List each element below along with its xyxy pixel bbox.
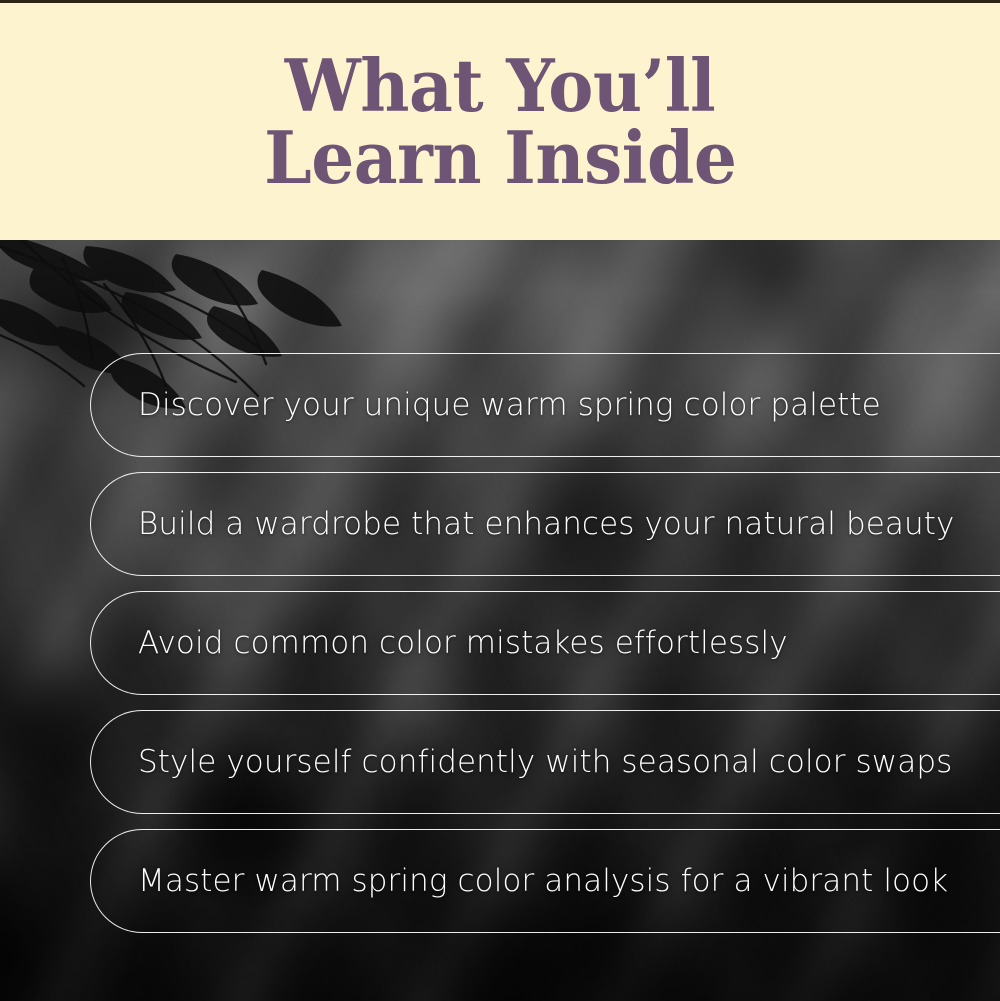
benefit-pill-4[interactable]: Style yourself confidently with seasonal… (90, 710, 1000, 814)
benefit-pill-1[interactable]: Discover your unique warm spring color p… (90, 353, 1000, 457)
poster-canvas: What You’ll Learn Inside (0, 0, 1000, 1001)
benefit-pill-5[interactable]: Master warm spring color analysis for a … (90, 829, 1000, 933)
page-title-line-2: Learn Inside (264, 123, 736, 192)
header-band: What You’ll Learn Inside (0, 3, 1000, 240)
benefit-pill-2[interactable]: Build a wardrobe that enhances your natu… (90, 472, 1000, 576)
benefit-pill-label: Avoid common color mistakes effortlessly (138, 625, 788, 661)
benefit-pill-label: Discover your unique warm spring color p… (138, 387, 881, 423)
page-title-line-1: What You’ll (285, 51, 715, 120)
benefit-pill-3[interactable]: Avoid common color mistakes effortlessly (90, 591, 1000, 695)
benefits-list: Discover your unique warm spring color p… (90, 353, 1000, 948)
benefit-pill-label: Master warm spring color analysis for a … (138, 863, 948, 899)
top-rule-divider (0, 0, 1000, 3)
benefit-pill-label: Build a wardrobe that enhances your natu… (138, 506, 954, 542)
benefit-pill-label: Style yourself confidently with seasonal… (138, 744, 952, 780)
